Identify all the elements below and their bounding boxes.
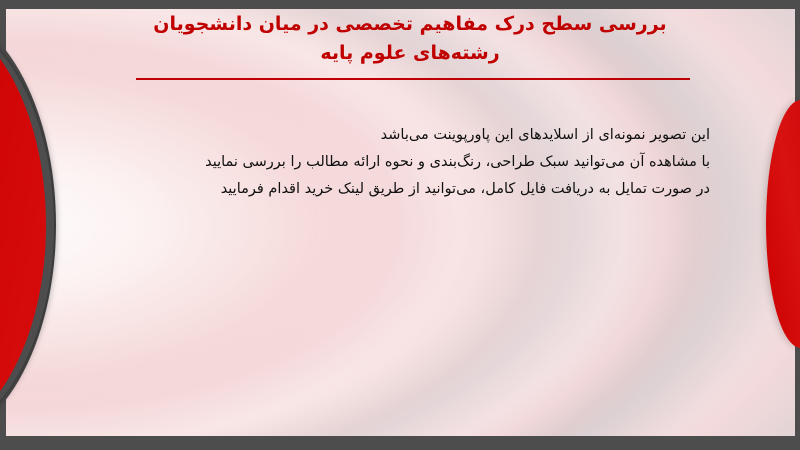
dark-bar-bottom [0,436,800,450]
slide-body-line-2: با مشاهده آن می‌توانید سبک طراحی، رنگ‌بن… [70,149,710,176]
slide-body: این تصویر نمونه‌ای از اسلایدهای این پاور… [70,122,710,203]
slide-title-line-2: رشته‌های علوم پایه [110,39,710,68]
dark-bar-top [0,0,800,9]
slide-body-line-3: در صورت تمایل به دریافت فایل کامل، می‌تو… [70,176,710,203]
slide-body-line-1: این تصویر نمونه‌ای از اسلایدهای این پاور… [70,122,710,149]
slide-title: بررسی سطح درک مفاهیم تخصصی در میان دانشج… [110,10,710,68]
slide-title-line-1: بررسی سطح درک مفاهیم تخصصی در میان دانشج… [110,10,710,39]
presentation-slide: بررسی سطح درک مفاهیم تخصصی در میان دانشج… [0,0,800,450]
red-horizontal-rule [136,78,690,80]
